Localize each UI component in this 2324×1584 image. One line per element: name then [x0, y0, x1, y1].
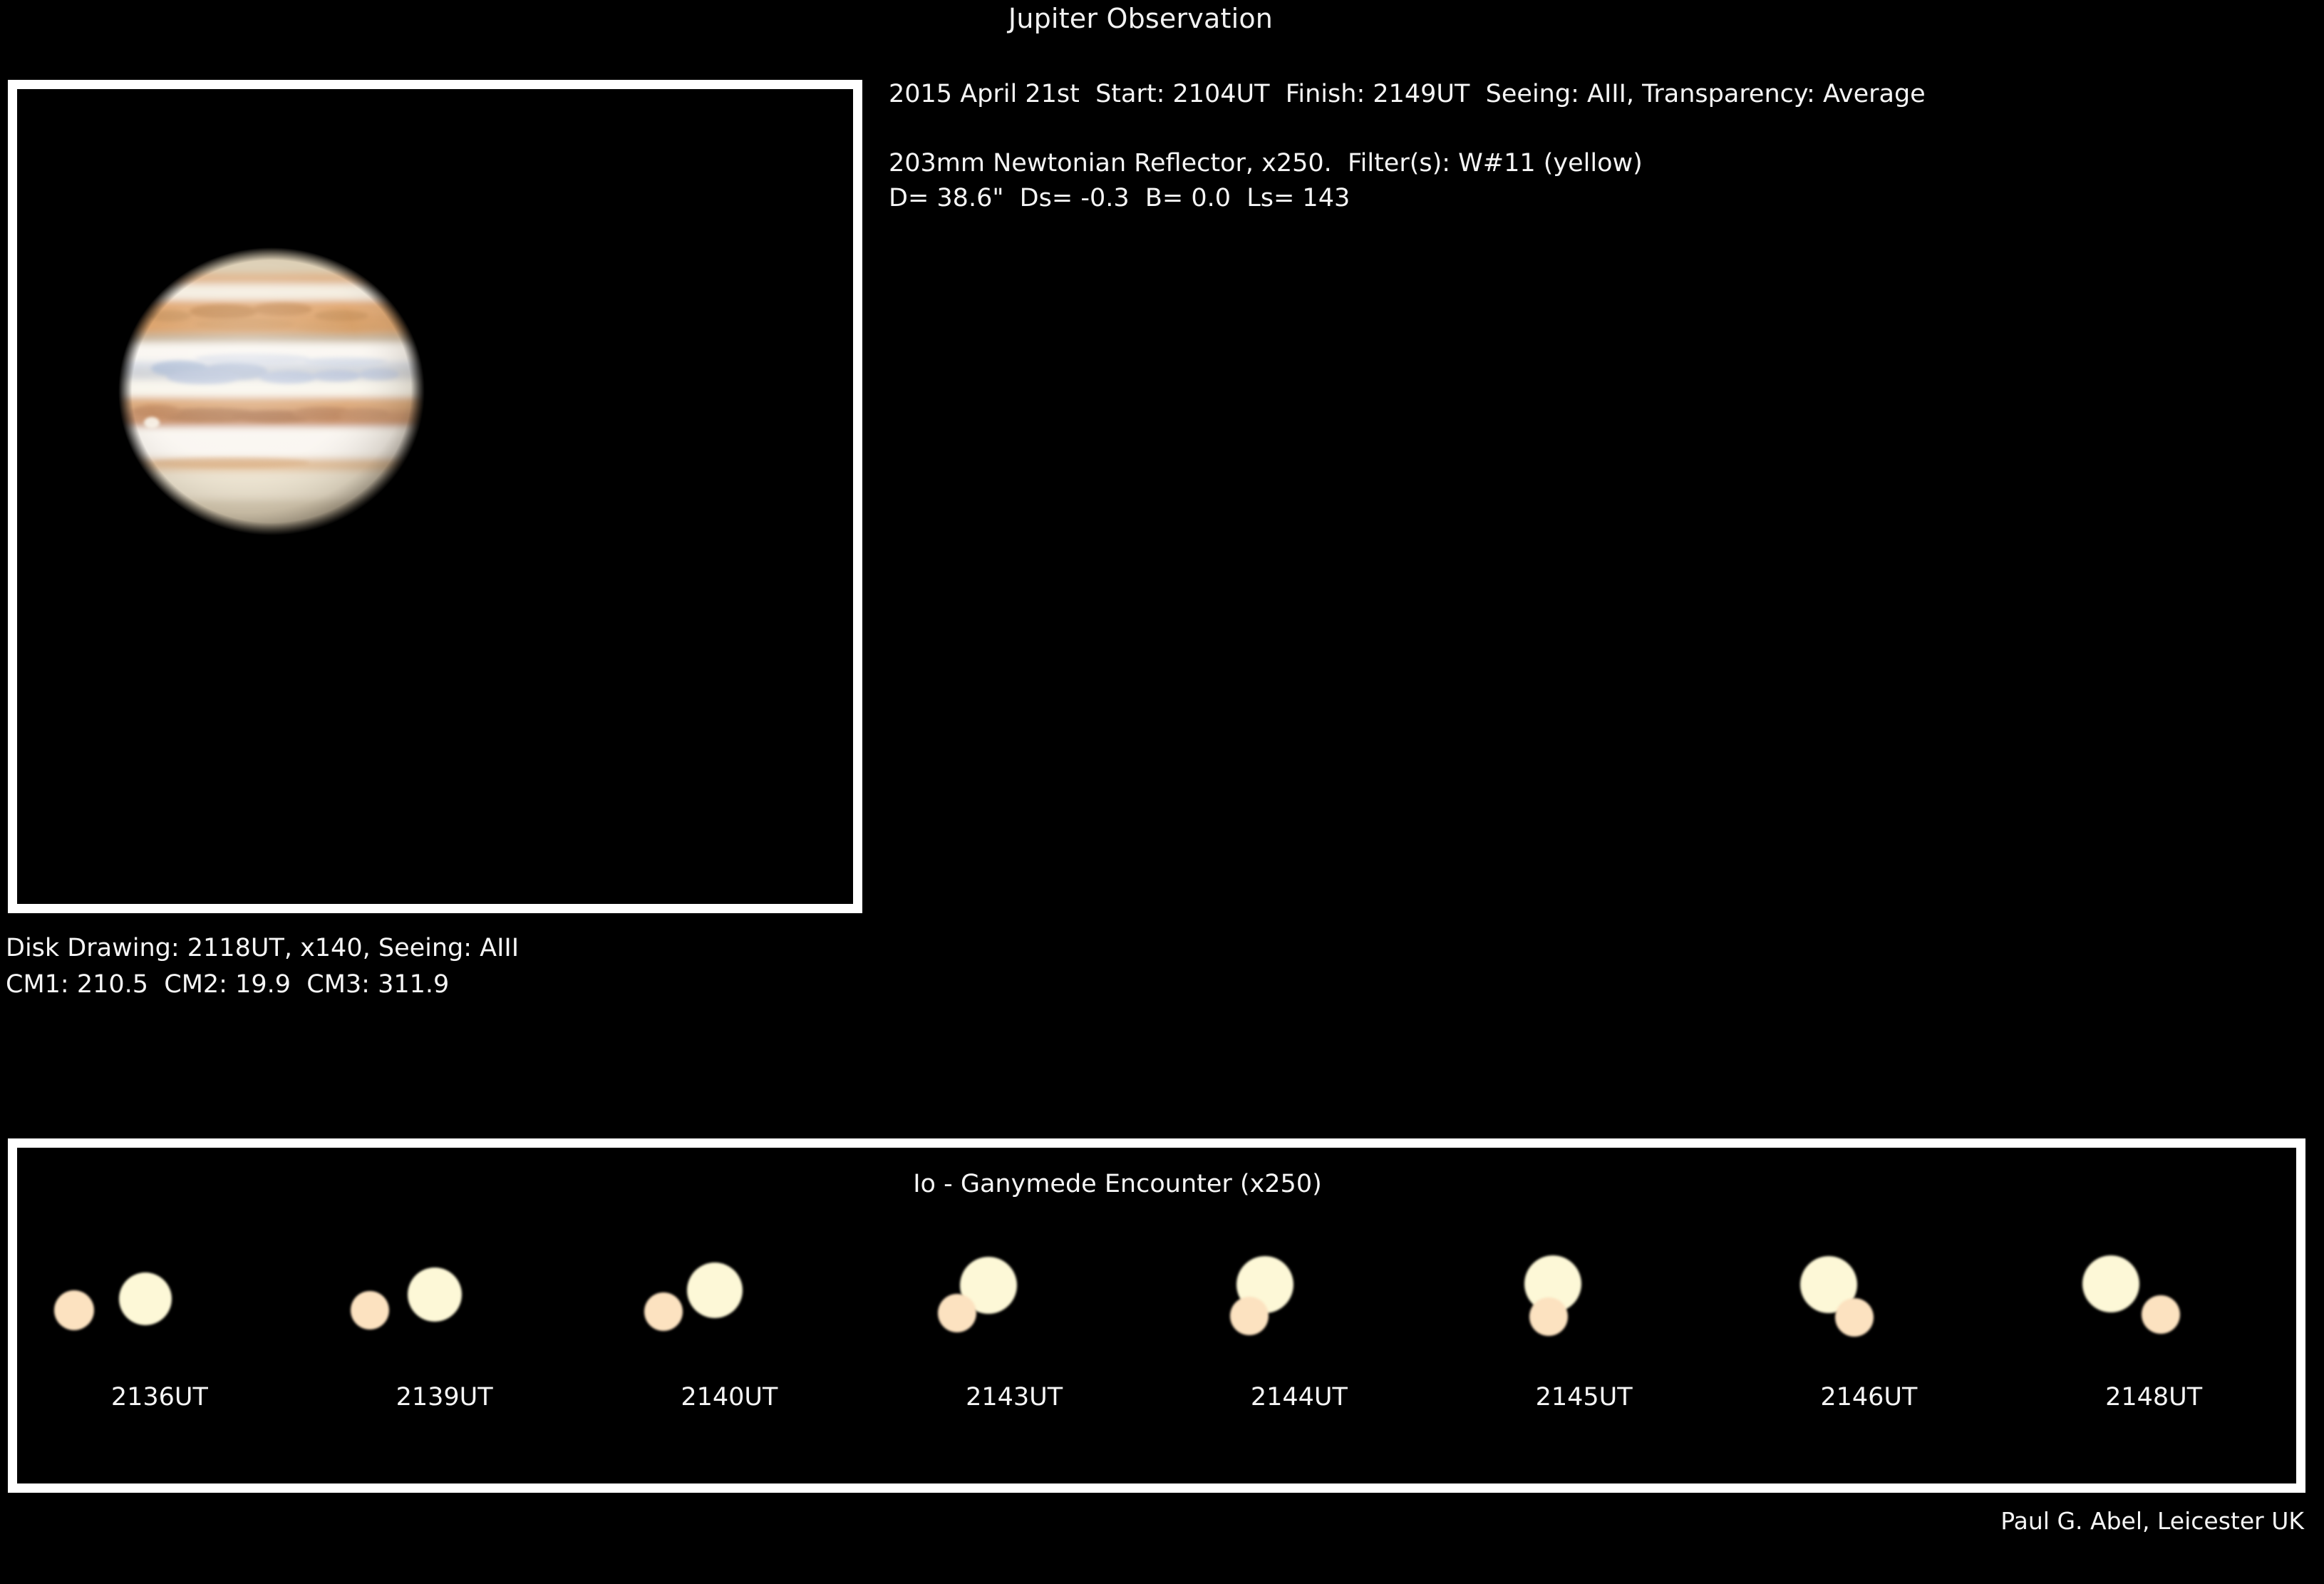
encounter-frame-strip: 2136UT2139UT2140UT2143UT2144UT2145UT2146…: [17, 1226, 2296, 1476]
encounter-frame-time-label: 2144UT: [1171, 1382, 1427, 1413]
ganymede-disk: [119, 1272, 172, 1325]
encounter-frame-time-label: 2136UT: [31, 1382, 288, 1413]
encounter-frame-time-label: 2148UT: [2025, 1382, 2282, 1413]
page-title-text: Jupiter Observation: [1008, 0, 1273, 37]
observer-credit: Paul G. Abel, Leicester UK: [2000, 1506, 2304, 1537]
encounter-frame: 2143UT: [886, 1226, 1142, 1476]
jupiter-disk-drawing: [17, 89, 853, 904]
encounter-frame-time-label: 2143UT: [886, 1382, 1142, 1413]
io-ganymede-encounter-panel: Io - Ganymede Encounter (x250) 2136UT213…: [8, 1138, 2305, 1493]
ephemeris-line: D= 38.6" Ds= -0.3 B= 0.0 Ls= 143: [889, 181, 2278, 216]
header-spacer: [889, 112, 2278, 146]
observation-conditions-line: 2015 April 21st Start: 2104UT Finish: 21…: [889, 77, 2278, 112]
encounter-frame: 2140UT: [601, 1226, 857, 1476]
encounter-panel-title-text: Io - Ganymede Encounter (x250): [913, 1168, 1322, 1200]
instrument-line: 203mm Newtonian Reflector, x250. Filter(…: [889, 146, 2278, 181]
encounter-frame-stage: [601, 1226, 857, 1383]
io-disk: [1230, 1297, 1269, 1335]
encounter-frame-stage: [886, 1226, 1142, 1383]
observation-header: 2015 April 21st Start: 2104UT Finish: 21…: [889, 77, 2278, 216]
central-meridian-values: CM1: 210.5 CM2: 19.9 CM3: 311.9: [6, 967, 1003, 1003]
encounter-panel-title: Io - Ganymede Encounter (x250): [17, 1168, 2296, 1200]
encounter-frame-stage: [1171, 1226, 1427, 1383]
encounter-frame: 2144UT: [1171, 1226, 1427, 1476]
encounter-frame: 2145UT: [1456, 1226, 1713, 1476]
encounter-frame: 2146UT: [1740, 1226, 1997, 1476]
ganymede-disk: [2082, 1255, 2139, 1312]
io-disk: [54, 1290, 94, 1330]
disk-drawing-details: Disk Drawing: 2118UT, x140, Seeing: AIII: [6, 930, 1003, 967]
io-disk: [644, 1292, 683, 1331]
encounter-frame-time-label: 2146UT: [1740, 1382, 1997, 1413]
disk-drawing-caption: Disk Drawing: 2118UT, x140, Seeing: AIII…: [6, 930, 1003, 1003]
io-disk: [1835, 1298, 1874, 1337]
encounter-frame: 2136UT: [31, 1226, 288, 1476]
io-disk: [938, 1294, 976, 1332]
encounter-frame: 2139UT: [316, 1226, 573, 1476]
encounter-frame-stage: [2025, 1226, 2282, 1383]
encounter-frame-stage: [1456, 1226, 1713, 1383]
page-title: Jupiter Observation: [0, 0, 2324, 37]
encounter-frame: 2148UT: [2025, 1226, 2282, 1476]
disk-drawing-frame: [8, 80, 862, 913]
encounter-frame-time-label: 2145UT: [1456, 1382, 1713, 1413]
encounter-frame-stage: [1740, 1226, 1997, 1383]
encounter-frame-time-label: 2139UT: [316, 1382, 573, 1413]
io-disk: [351, 1291, 389, 1330]
io-disk: [1529, 1297, 1568, 1336]
encounter-frame-stage: [31, 1226, 288, 1383]
ganymede-disk: [687, 1262, 743, 1318]
io-disk: [2142, 1295, 2180, 1334]
ganymede-disk: [408, 1267, 462, 1322]
encounter-frame-stage: [316, 1226, 573, 1383]
encounter-frame-time-label: 2140UT: [601, 1382, 857, 1413]
